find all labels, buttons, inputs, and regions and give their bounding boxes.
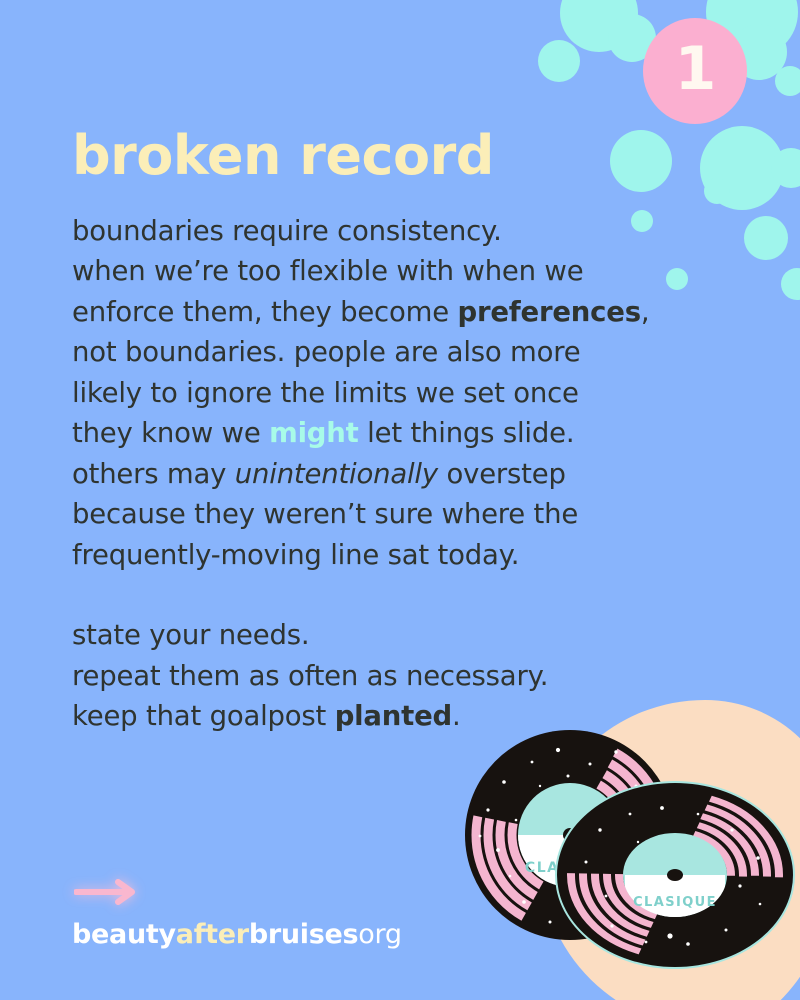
paragraph-two: state your needs.repeat them as often as… bbox=[72, 615, 672, 737]
body-segment: frequently-moving line sat today. bbox=[72, 539, 519, 571]
body-segment: they know we bbox=[72, 417, 269, 449]
paragraph-one: boundaries require consistency.when we’r… bbox=[72, 211, 672, 576]
body-segment: when we’re too flexible with when we bbox=[72, 255, 583, 287]
body-segment: others may bbox=[72, 458, 235, 490]
body-segment: . bbox=[452, 700, 461, 732]
vinyl-record-front: CLASIQUE bbox=[555, 781, 795, 969]
body-segment: because they weren’t sure where the bbox=[72, 498, 578, 530]
body-line: not boundaries. people are also more bbox=[72, 332, 672, 373]
wordmark-beauty: beauty bbox=[72, 919, 176, 950]
body-segment: state your needs. bbox=[72, 619, 309, 651]
body-line: state your needs. bbox=[72, 615, 672, 656]
body-line: keep that goalpost planted. bbox=[72, 696, 672, 737]
wordmark-bruises: bruises bbox=[249, 919, 358, 950]
body-segment: keep that goalpost bbox=[72, 700, 335, 732]
footer: beautyafterbruisesorg bbox=[72, 879, 402, 948]
body-line: enforce them, they become preferences, bbox=[72, 292, 672, 333]
body-segment: unintentionally bbox=[235, 458, 438, 490]
body-segment: boundaries require consistency. bbox=[72, 215, 502, 247]
body-segment: overstep bbox=[438, 458, 566, 490]
body-segment: repeat them as often as necessary. bbox=[72, 660, 548, 692]
wordmark-after: after bbox=[176, 919, 249, 950]
body-segment: not boundaries. people are also more bbox=[72, 336, 581, 368]
decorative-bubble bbox=[700, 126, 784, 210]
body-segment: preferences bbox=[457, 296, 640, 328]
body-line: boundaries require consistency. bbox=[72, 211, 672, 252]
record-label-front: CLASIQUE bbox=[623, 833, 727, 917]
number-badge-value: 1 bbox=[675, 39, 716, 99]
wordmark-org: org bbox=[358, 919, 401, 950]
record-label-text-front: CLASIQUE bbox=[633, 895, 717, 910]
decorative-bubble bbox=[704, 178, 730, 204]
body-segment: likely to ignore the limits we set once bbox=[72, 377, 579, 409]
body-line: likely to ignore the limits we set once bbox=[72, 373, 672, 414]
body-line: when we’re too flexible with when we bbox=[72, 251, 672, 292]
body-copy: boundaries require consistency.when we’r… bbox=[72, 211, 672, 737]
decorative-bubble bbox=[538, 40, 580, 82]
page-title: broken record bbox=[72, 128, 672, 185]
body-segment: let things slide. bbox=[359, 417, 575, 449]
arrow-right-icon bbox=[74, 879, 402, 909]
decorative-bubble bbox=[771, 148, 800, 188]
number-badge: 1 bbox=[643, 18, 747, 124]
body-line: frequently-moving line sat today. bbox=[72, 535, 672, 576]
body-line: others may unintentionally overstep bbox=[72, 454, 672, 495]
site-wordmark[interactable]: beautyafterbruisesorg bbox=[72, 921, 402, 948]
decorative-bubble bbox=[781, 268, 800, 300]
poster-canvas: 1 broken record boundaries require consi… bbox=[0, 0, 800, 1000]
body-line: repeat them as often as necessary. bbox=[72, 656, 672, 697]
body-segment: planted bbox=[335, 700, 452, 732]
body-segment: enforce them, they become bbox=[72, 296, 457, 328]
decorative-bubble bbox=[744, 216, 788, 260]
paragraph-gap bbox=[72, 575, 672, 615]
body-segment: might bbox=[269, 417, 359, 449]
content-column: broken record boundaries require consist… bbox=[72, 128, 672, 737]
body-line: because they weren’t sure where the bbox=[72, 494, 672, 535]
decorative-bubble bbox=[775, 66, 800, 96]
decorative-bubble bbox=[560, 0, 638, 52]
body-line: they know we might let things slide. bbox=[72, 413, 672, 454]
body-segment: , bbox=[641, 296, 650, 328]
